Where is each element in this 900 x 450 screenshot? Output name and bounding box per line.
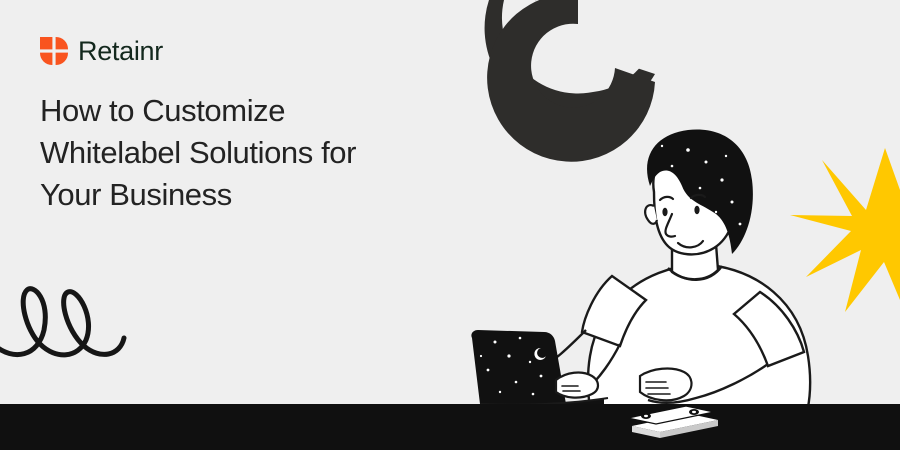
banknote-stack bbox=[628, 406, 718, 438]
brand-name: Retainr bbox=[78, 38, 163, 65]
page-title: How to Customize Whitelabel Solutions fo… bbox=[40, 68, 420, 216]
brand-row: Retainr bbox=[40, 34, 460, 68]
brand-block: Retainr How to Customize Whitelabel Solu… bbox=[40, 34, 460, 216]
banner-canvas: Retainr How to Customize Whitelabel Solu… bbox=[0, 0, 900, 450]
retainr-logo-icon bbox=[40, 37, 68, 65]
